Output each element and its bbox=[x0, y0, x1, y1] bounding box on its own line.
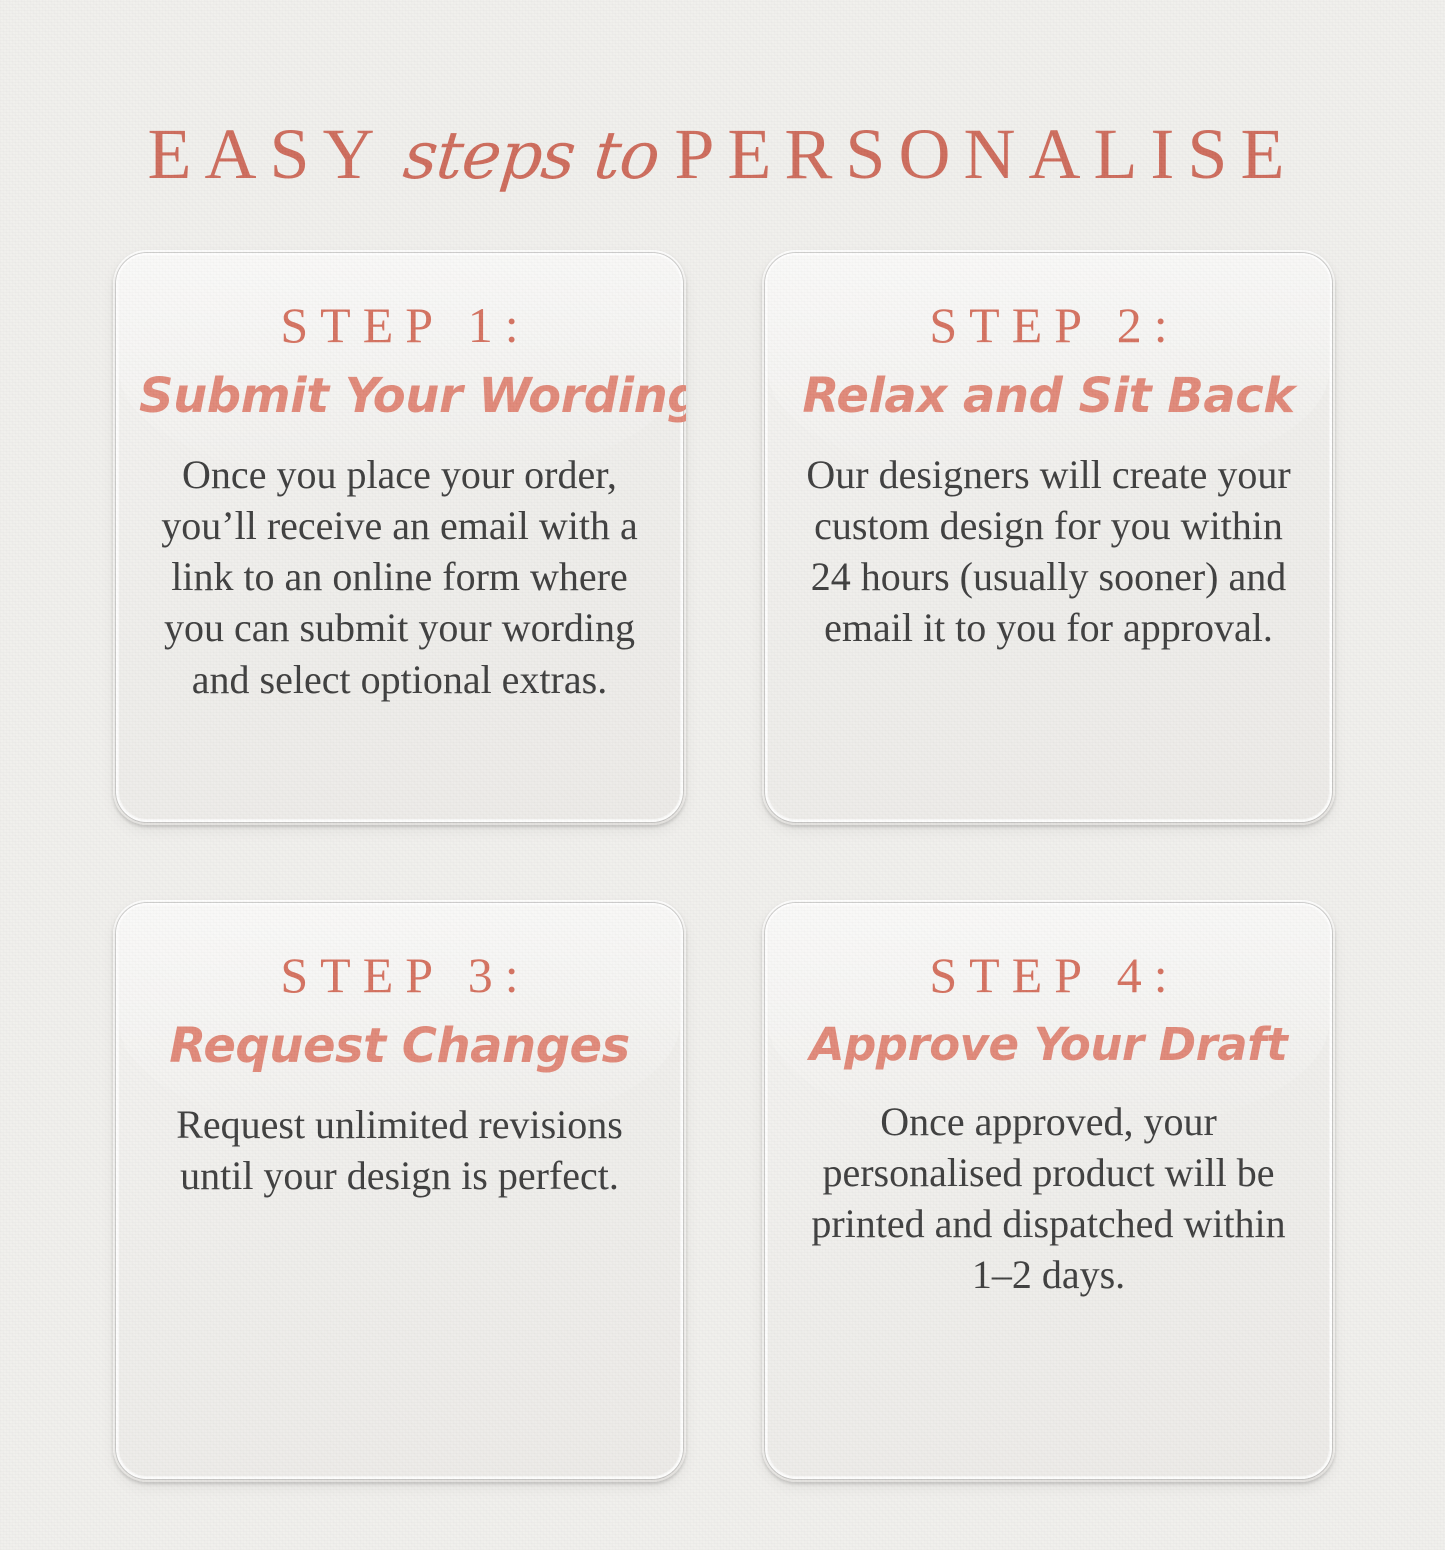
step-card-2-content: STEP 2: Relax and Sit Back Our designers… bbox=[788, 298, 1309, 654]
step-label-3: STEP 3: bbox=[139, 948, 660, 1003]
steps-grid: STEP 1: Submit Your Wording Once you pla… bbox=[113, 250, 1335, 1482]
headline-script-text: steps to bbox=[384, 123, 678, 189]
step-body-1: Once you place your order, you’ll receiv… bbox=[150, 449, 650, 705]
step-label-1: STEP 1: bbox=[139, 298, 660, 353]
step-body-2: Our designers will create your custom de… bbox=[799, 449, 1299, 654]
step-card-1: STEP 1: Submit Your Wording Once you pla… bbox=[113, 250, 686, 825]
step-card-3: STEP 3: Request Changes Request unlimite… bbox=[113, 900, 686, 1482]
step-card-3-content: STEP 3: Request Changes Request unlimite… bbox=[139, 948, 660, 1201]
step-card-1-content: STEP 1: Submit Your Wording Once you pla… bbox=[139, 298, 660, 705]
step-body-4: Once approved, your personalised product… bbox=[799, 1096, 1299, 1301]
page-title: EASYsteps toPERSONALISE bbox=[0, 118, 1445, 190]
headline-part-two: PERSONALISE bbox=[674, 114, 1297, 194]
step-card-4: STEP 4: Approve Your Draft Once approved… bbox=[762, 900, 1335, 1482]
infographic-page: EASYsteps toPERSONALISE STEP 1: Submit Y… bbox=[0, 0, 1445, 1550]
step-card-2: STEP 2: Relax and Sit Back Our designers… bbox=[762, 250, 1335, 825]
step-label-2: STEP 2: bbox=[788, 298, 1309, 353]
step-card-4-content: STEP 4: Approve Your Draft Once approved… bbox=[788, 948, 1309, 1300]
headline-part-one: EASY bbox=[148, 114, 388, 194]
step-heading-4: Approve Your Draft bbox=[788, 1021, 1309, 1070]
step-heading-2: Relax and Sit Back bbox=[788, 371, 1309, 423]
step-label-4: STEP 4: bbox=[788, 948, 1309, 1003]
step-heading-3: Request Changes bbox=[139, 1021, 660, 1073]
step-body-3: Request unlimited revisions until your d… bbox=[150, 1099, 650, 1201]
step-heading-1: Submit Your Wording bbox=[139, 371, 660, 423]
